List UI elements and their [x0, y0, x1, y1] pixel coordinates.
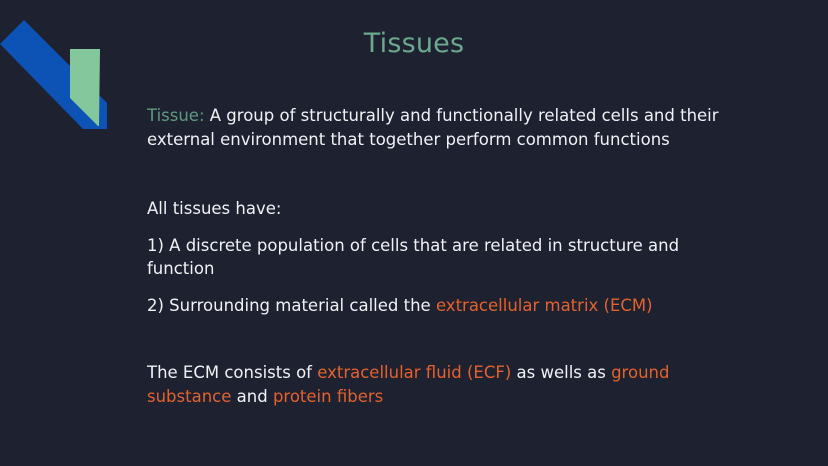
spacer	[147, 281, 743, 294]
definition-text: A group of structurally and functionally…	[147, 106, 719, 149]
summary-paragraph: The ECM consists of extracellular fluid …	[147, 361, 743, 408]
list-item-1: 1) A discrete population of cells that a…	[147, 234, 743, 281]
summary-highlight-protein-fibers: protein fibers	[273, 387, 383, 406]
summary-segment-3: and	[231, 387, 273, 406]
list-item-2-highlight: extracellular matrix (ECM)	[436, 296, 653, 315]
list-intro: All tissues have:	[147, 197, 743, 221]
list-item-2: 2) Surrounding material called the extra…	[147, 294, 743, 318]
summary-highlight-ecf: extracellular fluid (ECF)	[317, 363, 511, 382]
spacer	[147, 317, 743, 361]
slide-body: Tissue: A group of structurally and func…	[147, 104, 743, 408]
corner-ornament-decoration	[0, 0, 140, 150]
definition-term: Tissue:	[147, 106, 205, 125]
definition-paragraph: Tissue: A group of structurally and func…	[147, 104, 743, 151]
slide-title: Tissues	[0, 27, 828, 61]
slide-canvas: Tissues Tissue: A group of structurally …	[0, 0, 828, 466]
spacer	[147, 151, 743, 197]
spacer	[147, 221, 743, 234]
summary-segment-1: The ECM consists of	[147, 363, 317, 382]
list-item-2-lead: 2) Surrounding material called the	[147, 296, 436, 315]
summary-segment-2: as wells as	[511, 363, 611, 382]
